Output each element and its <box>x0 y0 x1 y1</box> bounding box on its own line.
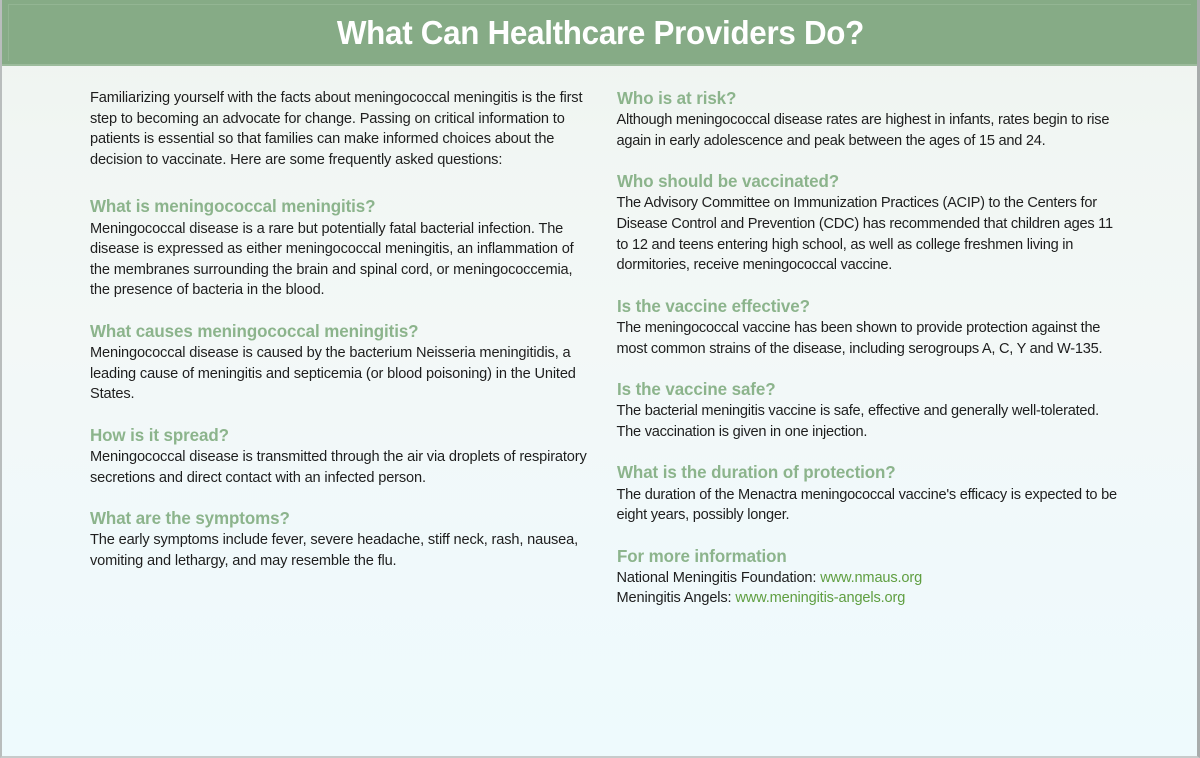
faq-section-how-is-it-spread: How is it spread? Meningococcal disease … <box>90 425 595 488</box>
resource-label: National Meningitis Foundation: <box>617 570 817 586</box>
intro-paragraph: Familiarizing yourself with the facts ab… <box>90 88 595 170</box>
faq-heading: Who is at risk? <box>617 88 1106 108</box>
faq-heading: What are the symptoms? <box>90 508 579 528</box>
more-information-section: For more information National Meningitis… <box>617 546 1122 609</box>
faq-heading: What is the duration of protection? <box>617 462 1106 482</box>
content-columns: Familiarizing yourself with the facts ab… <box>2 66 1197 756</box>
faq-section-what-is-meningococcal-meningitis: What is meningococcal meningitis? Mening… <box>90 196 595 301</box>
faq-heading: How is it spread? <box>90 425 579 445</box>
page-header-inner: What Can Healthcare Providers Do? <box>8 4 1191 61</box>
resource-link[interactable]: www.meningitis-angels.org <box>735 590 905 606</box>
faq-heading: Is the vaccine safe? <box>617 379 1106 399</box>
faq-body: The early symptoms include fever, severe… <box>90 530 595 571</box>
faq-body: Meningococcal disease is a rare but pote… <box>90 219 595 301</box>
faq-section-who-is-at-risk: Who is at risk? Although meningococcal d… <box>617 88 1122 151</box>
faq-heading: Is the vaccine effective? <box>617 296 1106 316</box>
left-column: Familiarizing yourself with the facts ab… <box>2 88 617 756</box>
resource-line: National Meningitis Foundation: www.nmau… <box>617 568 1122 589</box>
resource-line: Meningitis Angels: www.meningitis-angels… <box>617 588 1122 609</box>
faq-body: The bacterial meningitis vaccine is safe… <box>617 401 1122 442</box>
faq-section-what-is-the-duration-of-protection: What is the duration of protection? The … <box>617 462 1122 525</box>
faq-body: The meningococcal vaccine has been shown… <box>617 318 1122 359</box>
faq-section-what-are-the-symptoms: What are the symptoms? The early symptom… <box>90 508 595 571</box>
faq-heading: What causes meningococcal meningitis? <box>90 321 579 341</box>
faq-body: The Advisory Committee on Immunization P… <box>617 193 1122 275</box>
more-information-heading: For more information <box>617 546 1106 566</box>
faq-body: Meningococcal disease is caused by the b… <box>90 343 595 405</box>
page-title: What Can Healthcare Providers Do? <box>336 16 863 49</box>
fact-sheet-page: What Can Healthcare Providers Do? Famili… <box>0 0 1200 758</box>
right-column: Who is at risk? Although meningococcal d… <box>617 88 1198 756</box>
faq-section-is-the-vaccine-safe: Is the vaccine safe? The bacterial menin… <box>617 379 1122 442</box>
faq-section-what-causes-meningococcal-meningitis: What causes meningococcal meningitis? Me… <box>90 321 595 405</box>
faq-body: The duration of the Menactra meningococc… <box>617 485 1122 526</box>
faq-section-is-the-vaccine-effective: Is the vaccine effective? The meningococ… <box>617 296 1122 359</box>
faq-body: Although meningococcal disease rates are… <box>617 110 1122 151</box>
page-header-bar: What Can Healthcare Providers Do? <box>2 0 1197 66</box>
faq-section-who-should-be-vaccinated: Who should be vaccinated? The Advisory C… <box>617 171 1122 276</box>
resource-label: Meningitis Angels: <box>617 590 732 606</box>
faq-body: Meningococcal disease is transmitted thr… <box>90 447 595 488</box>
resource-link[interactable]: www.nmaus.org <box>820 570 922 586</box>
faq-heading: Who should be vaccinated? <box>617 171 1106 191</box>
faq-heading: What is meningococcal meningitis? <box>90 196 579 216</box>
